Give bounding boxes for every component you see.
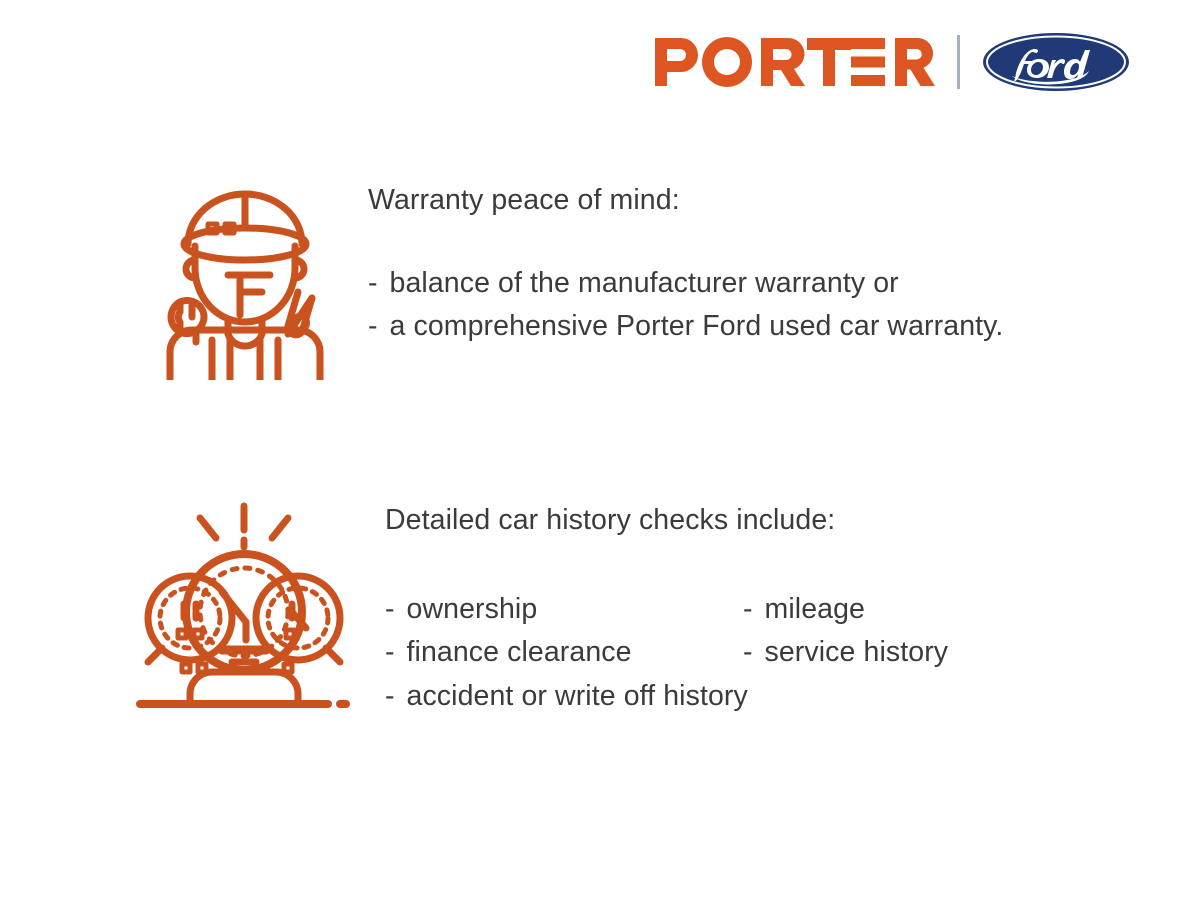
bullet-dash: - — [385, 589, 395, 630]
list-item: - service history — [743, 632, 948, 673]
warranty-bullet-list: - balance of the manufacturer warranty o… — [368, 263, 1003, 348]
bullet-dash: - — [743, 632, 753, 673]
bullet-label: a comprehensive Porter Ford used car war… — [390, 306, 1004, 347]
list-item: - accident or write off history — [385, 676, 948, 717]
history-heading: Detailed car history checks include: — [385, 504, 948, 537]
bullet-label: accident or write off history — [407, 676, 748, 717]
bullet-label: ownership — [407, 589, 538, 630]
warranty-block: Warranty peace of mind: - balance of the… — [150, 180, 1003, 385]
bullet-dash: - — [368, 306, 378, 347]
history-checks-block: Detailed car history checks include: - o… — [132, 500, 948, 717]
list-item: - finance clearance — [385, 632, 743, 673]
bullet-label: balance of the manufacturer warranty or — [390, 263, 899, 304]
bullet-label: service history — [765, 632, 949, 673]
brand-header — [655, 32, 1130, 92]
mechanic-worker-icon — [150, 180, 340, 385]
dashboard-gauges-icon — [132, 500, 357, 715]
warranty-text: Warranty peace of mind: - balance of the… — [368, 180, 1003, 350]
list-item: - ownership — [385, 589, 743, 630]
bullet-dash: - — [385, 676, 395, 717]
bullet-dash: - — [743, 589, 753, 630]
porter-wordmark-logo — [655, 36, 935, 88]
list-item: - a comprehensive Porter Ford used car w… — [368, 306, 1003, 347]
bullet-label: finance clearance — [407, 632, 632, 673]
history-text: Detailed car history checks include: - o… — [385, 500, 948, 717]
history-bullet-list: - ownership - mileage - finance clearanc… — [385, 589, 948, 717]
bullet-label: mileage — [765, 589, 866, 630]
list-item: - mileage — [743, 589, 948, 630]
bullet-dash: - — [368, 263, 378, 304]
warranty-heading: Warranty peace of mind: — [368, 184, 1003, 217]
list-item: - balance of the manufacturer warranty o… — [368, 263, 1003, 304]
bullet-dash: - — [385, 632, 395, 673]
ford-oval-logo — [982, 32, 1130, 92]
vertical-divider-icon — [957, 35, 960, 89]
